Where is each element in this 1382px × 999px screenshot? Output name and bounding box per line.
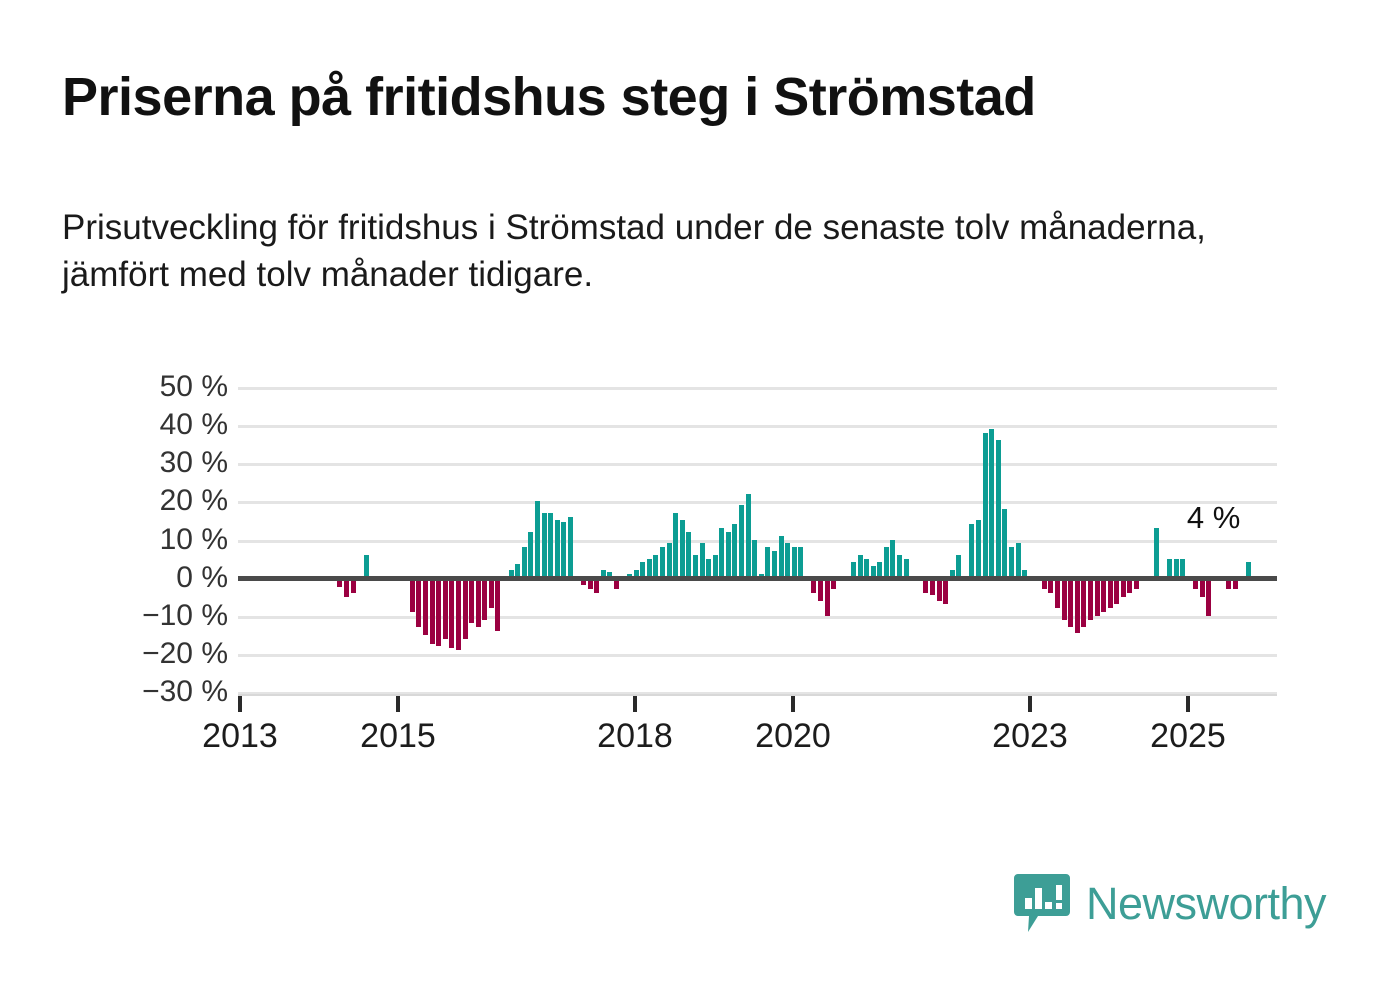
chart-bar: [673, 513, 678, 578]
chart-bar: [1055, 578, 1060, 609]
chart-bar: [667, 543, 672, 577]
chart-bar: [693, 555, 698, 578]
chart-bar: [1081, 578, 1086, 628]
chart-bar: [561, 522, 566, 577]
chart-bar: [489, 578, 494, 609]
chart-bar: [1016, 543, 1021, 577]
chart-bar: [897, 555, 902, 578]
chart-bar: [423, 578, 428, 635]
chart-bar: [890, 540, 895, 578]
chart-bar: [436, 578, 441, 647]
chart-bar: [996, 440, 1001, 577]
chart-bar: [476, 578, 481, 628]
chart-bar: [989, 429, 994, 578]
x-axis-tick-label: 2025: [1150, 717, 1226, 756]
chart-bar: [818, 578, 823, 601]
chart-bar: [785, 543, 790, 577]
chart-bar: [1154, 528, 1159, 578]
chart-bar: [956, 555, 961, 578]
chart-bar: [1101, 578, 1106, 612]
chart-bar: [969, 524, 974, 577]
gridline: [238, 387, 1277, 390]
chart-bar: [779, 536, 784, 578]
chart-bar: [653, 555, 658, 578]
chart-bar: [1009, 547, 1014, 578]
y-axis-tick-label: −10 %: [108, 599, 228, 633]
chart-bar: [765, 547, 770, 578]
chart-bar: [495, 578, 500, 631]
x-axis-tick: [791, 696, 795, 712]
chart-bar: [792, 547, 797, 578]
chart-bar: [542, 513, 547, 578]
zero-line: [238, 576, 1277, 581]
x-axis-tick: [1186, 696, 1190, 712]
chart-bar: [1095, 578, 1100, 616]
plot-area: [238, 387, 1277, 692]
chart-bar: [548, 513, 553, 578]
chart-bar: [686, 532, 691, 578]
y-axis-tick-label: 10 %: [108, 523, 228, 557]
chart-bar: [443, 578, 448, 639]
chart-bar: [943, 578, 948, 605]
x-axis-tick-label: 2013: [202, 717, 278, 756]
x-axis-tick-label: 2015: [360, 717, 436, 756]
chart-bar: [528, 532, 533, 578]
chart-bar: [1206, 578, 1211, 616]
y-axis-tick-label: −20 %: [108, 637, 228, 671]
value-annotation: 4 %: [1187, 500, 1240, 536]
x-axis-line: [238, 694, 1277, 696]
chart-bar: [858, 555, 863, 578]
chart-bar: [416, 578, 421, 628]
x-axis-tick: [1028, 696, 1032, 712]
chart-bar: [700, 543, 705, 577]
chart-bar: [469, 578, 474, 624]
gridline: [238, 616, 1277, 619]
chart-bar: [1002, 509, 1007, 578]
y-axis-tick-label: 0 %: [108, 561, 228, 595]
bar-chart: 201320152018202020232025 50 %40 %30 %20 …: [0, 0, 1382, 999]
chart-bar: [732, 524, 737, 577]
y-axis-tick-label: −30 %: [108, 675, 228, 709]
chart-bar: [713, 555, 718, 578]
chart-bar: [430, 578, 435, 645]
gridline: [238, 463, 1277, 466]
chart-bar: [482, 578, 487, 620]
chart-bar: [410, 578, 415, 612]
chart-bar: [463, 578, 468, 639]
chart-bar: [884, 547, 889, 578]
x-axis-tick: [633, 696, 637, 712]
chart-bar: [568, 517, 573, 578]
chart-bar: [976, 520, 981, 577]
x-axis-tick-label: 2023: [992, 717, 1068, 756]
x-axis-tick: [238, 696, 242, 712]
chart-bar: [1108, 578, 1113, 609]
chart-bar: [746, 494, 751, 578]
chart-bar: [825, 578, 830, 616]
chart-bar: [726, 532, 731, 578]
newsworthy-logo: Newsworthy: [1012, 872, 1326, 936]
chart-bar: [555, 520, 560, 577]
chart-bar: [680, 520, 685, 577]
chart-bar: [752, 540, 757, 578]
newsworthy-bar-chart-bubble-icon: [1012, 872, 1072, 936]
chart-bar: [937, 578, 942, 601]
chart-bar: [772, 551, 777, 578]
chart-bar: [798, 547, 803, 578]
chart-bar: [1068, 578, 1073, 628]
gridline: [238, 425, 1277, 428]
chart-bar: [983, 433, 988, 578]
chart-bar: [364, 555, 369, 578]
chart-bar: [1075, 578, 1080, 633]
gridline: [238, 501, 1277, 504]
gridline: [238, 540, 1277, 543]
chart-bar: [1062, 578, 1067, 620]
chart-bar: [449, 578, 454, 649]
x-axis-tick-label: 2018: [597, 717, 673, 756]
gridline: [238, 654, 1277, 657]
chart-bar: [1114, 578, 1119, 605]
chart-bar: [522, 547, 527, 578]
chart-bar: [1088, 578, 1093, 620]
chart-bar: [535, 501, 540, 577]
chart-bar: [456, 578, 461, 650]
x-axis-tick: [396, 696, 400, 712]
chart-bar: [739, 505, 744, 577]
y-axis-tick-label: 20 %: [108, 484, 228, 518]
chart-bar: [719, 528, 724, 578]
chart-bar: [660, 547, 665, 578]
x-axis-tick-label: 2020: [755, 717, 831, 756]
y-axis-tick-label: 30 %: [108, 446, 228, 480]
brand-name: Newsworthy: [1086, 878, 1326, 930]
y-axis-tick-label: 40 %: [108, 408, 228, 442]
chart-page: Priserna på fritidshus steg i Strömstad …: [0, 0, 1382, 999]
y-axis-tick-label: 50 %: [108, 370, 228, 404]
